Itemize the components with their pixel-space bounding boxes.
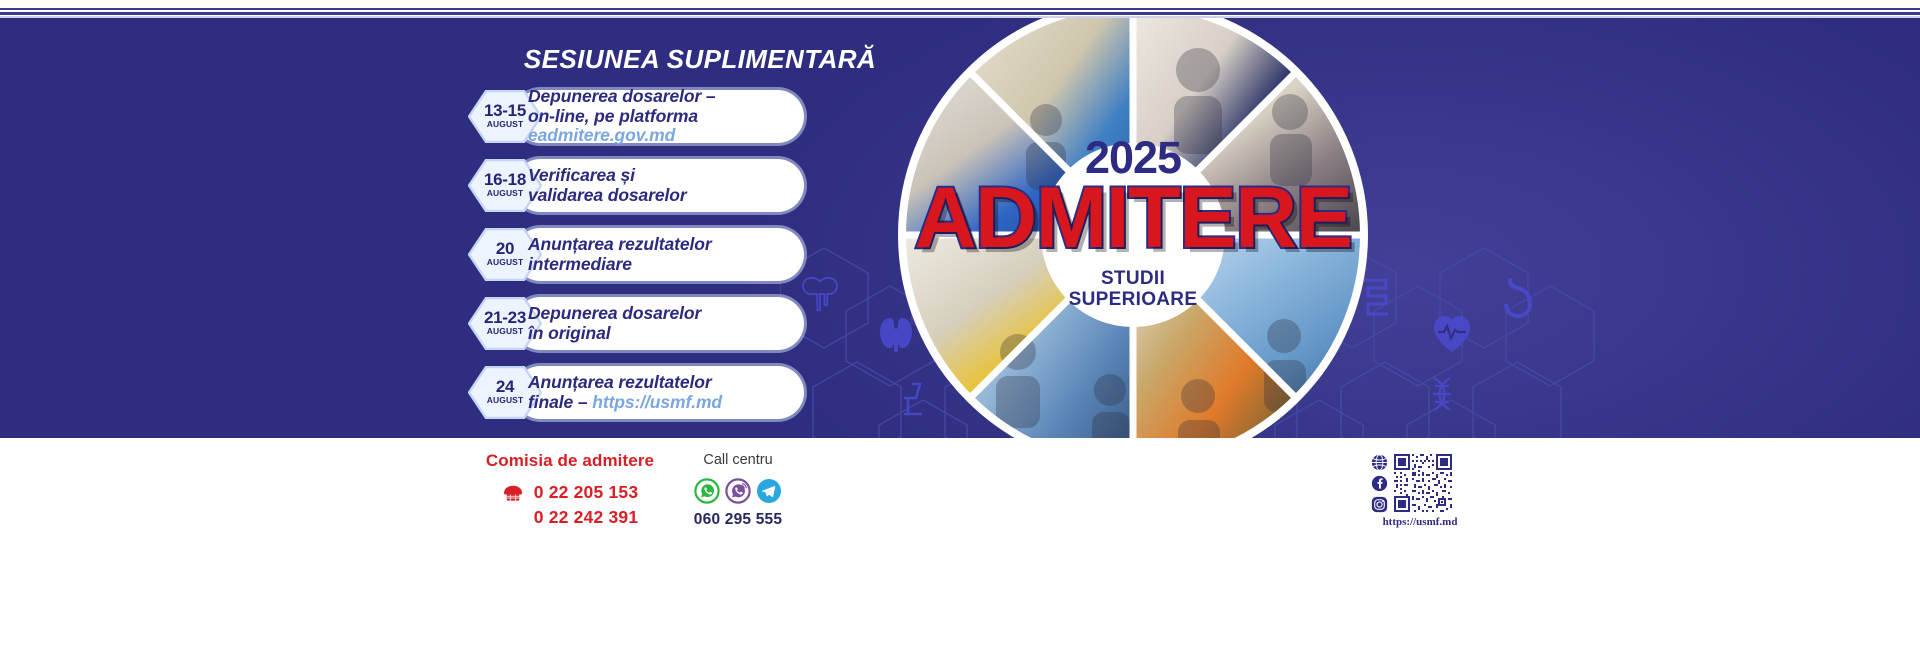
timeline-line-1: Depunerea dosarelor – (528, 87, 804, 107)
call-center-apps (648, 478, 828, 504)
date-badge-day: 16-18 (484, 172, 526, 188)
telephone-icon (502, 484, 524, 502)
footer: Comisia de admitere 0 22 205 153 (0, 438, 1920, 664)
call-center-title: Call centru (648, 450, 828, 470)
date-badge-month: AUGUST (487, 119, 524, 130)
facebook-icon[interactable] (1371, 475, 1388, 492)
timeline-line-2: în original (528, 324, 804, 344)
date-badge-day: 13-15 (484, 103, 526, 119)
top-rule-thin (0, 8, 1920, 10)
collage-svg (898, 18, 1368, 438)
date-badge-day: 24 (496, 379, 514, 395)
qr-url-label: https://usmf.md (1366, 516, 1474, 528)
top-rule-thick (0, 12, 1920, 15)
timeline-line-1: Depunerea dosarelor (528, 304, 804, 324)
timeline-description: Verificarea și validarea dosarelor (528, 159, 804, 212)
timeline-line-1: Verificarea și (528, 166, 804, 186)
qr-block: https://usmf.md (1370, 452, 1470, 522)
timeline-line-2-prefix: finale – (528, 392, 592, 412)
timeline-row[interactable]: 13-15 AUGUST Depunerea dosarelor – on-li… (468, 90, 818, 143)
timeline-line-2: on-line, pe platforma (528, 107, 804, 127)
admission-banner-page: SESIUNEA SUPLIMENTARĂ 13-15 AUGUST Depun… (0, 0, 1920, 664)
timeline-description: Depunerea dosarelor – on-line, pe platfo… (528, 90, 804, 143)
date-badge-day: 21-23 (484, 310, 526, 326)
timeline-description: Anunțarea rezultatelor intermediare (528, 228, 804, 281)
circular-photo-collage: 2025 ADMITERE STUDII SUPERIOARE (898, 18, 1368, 438)
timeline-row[interactable]: 20 AUGUST Anunțarea rezultatelor interme… (468, 228, 818, 281)
call-center-block: Call centru (648, 450, 828, 529)
telegram-icon[interactable] (756, 478, 782, 504)
viber-icon[interactable] (725, 478, 751, 504)
timeline-link[interactable]: https://usmf.md (592, 392, 722, 412)
session-title: SESIUNEA SUPLIMENTARĂ (420, 44, 980, 75)
timeline-line-2: intermediare (528, 255, 804, 275)
timeline-line-2: validarea dosarelor (528, 186, 804, 206)
timeline-link[interactable]: eadmitere.gov.md (528, 126, 804, 146)
blue-banner: SESIUNEA SUPLIMENTARĂ 13-15 AUGUST Depun… (0, 18, 1920, 438)
timeline-row[interactable]: 24 AUGUST Anunțarea rezultatelor finale … (468, 366, 818, 419)
social-icons (1370, 454, 1388, 516)
timeline-description: Anunțarea rezultatelor finale – https://… (528, 366, 804, 419)
qr-code[interactable] (1392, 452, 1454, 514)
instagram-icon[interactable] (1371, 496, 1388, 513)
timeline-list: 13-15 AUGUST Depunerea dosarelor – on-li… (468, 90, 818, 435)
date-badge-month: AUGUST (487, 395, 524, 406)
globe-icon[interactable] (1371, 454, 1388, 471)
timeline-row[interactable]: 16-18 AUGUST Verificarea și validarea do… (468, 159, 818, 212)
call-center-number[interactable]: 060 295 555 (648, 511, 828, 529)
date-badge-month: AUGUST (487, 188, 524, 199)
date-badge-day: 20 (496, 241, 514, 257)
whatsapp-icon[interactable] (694, 478, 720, 504)
commission-phone-1[interactable]: 0 22 205 153 (534, 480, 639, 505)
timeline-row[interactable]: 21-23 AUGUST Depunerea dosarelor în orig… (468, 297, 818, 350)
timeline-line-1: Anunțarea rezultatelor (528, 235, 804, 255)
date-badge-month: AUGUST (487, 257, 524, 268)
commission-phone-2[interactable]: 0 22 242 391 (534, 505, 639, 530)
timeline-line-1: Anunțarea rezultatelor (528, 373, 804, 393)
date-badge-month: AUGUST (487, 326, 524, 337)
timeline-line-2: finale – https://usmf.md (528, 393, 804, 413)
timeline-description: Depunerea dosarelor în original (528, 297, 804, 350)
